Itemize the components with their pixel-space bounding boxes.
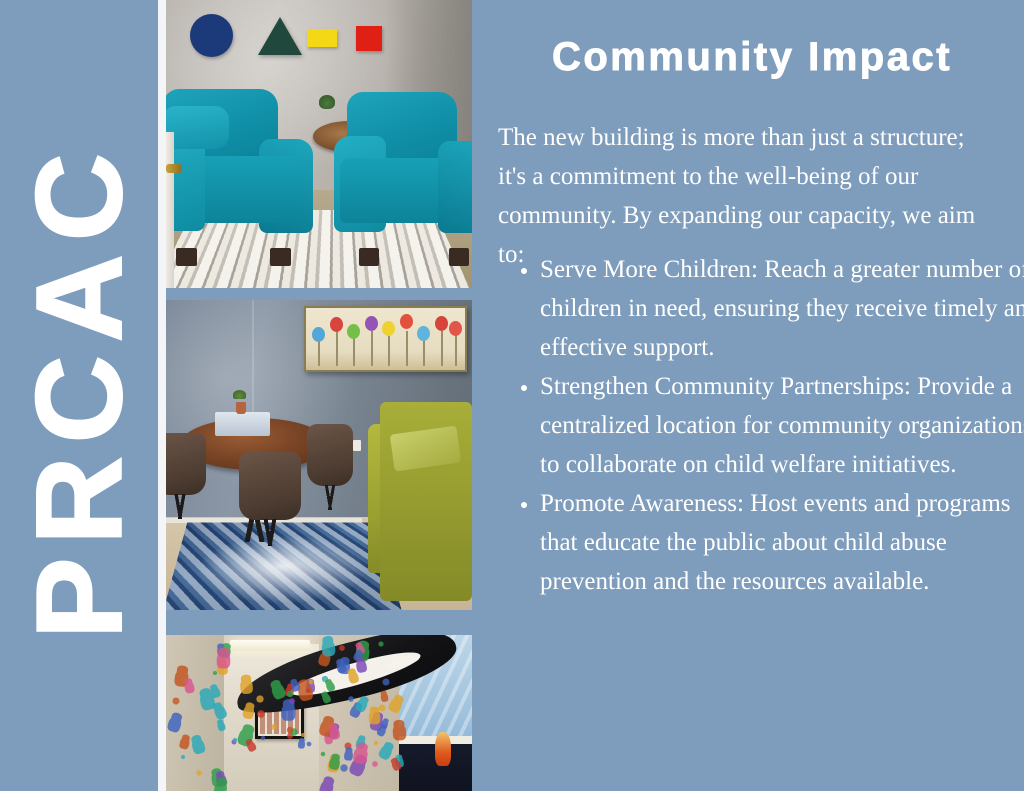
armchair-foot-left xyxy=(359,248,379,266)
armchair-left xyxy=(166,89,313,256)
armchair-foot-right xyxy=(270,248,291,266)
handprint-icon xyxy=(322,640,337,657)
content-panel: Community Impact The new building is mor… xyxy=(480,0,1024,791)
dining-chair-left xyxy=(166,433,206,495)
photo-therapy-room-scene xyxy=(166,0,472,288)
brand-acronym-prcac: PRCAC xyxy=(18,140,140,652)
table-plant-pot xyxy=(236,402,246,414)
poster-canvas: PRCAC xyxy=(0,0,1024,791)
handprint-icon xyxy=(184,681,196,694)
armchair-right xyxy=(337,92,472,256)
chair-legs xyxy=(166,494,206,519)
door-jamb xyxy=(166,132,174,288)
armchair-arm-right xyxy=(438,141,472,233)
paint-dot xyxy=(340,764,347,771)
chair-legs xyxy=(307,485,353,510)
handprint-icon xyxy=(281,704,295,721)
photo-meeting-room-scene xyxy=(166,300,472,610)
wall-shape-triangle-icon xyxy=(258,17,302,55)
table-plant xyxy=(319,95,335,109)
handprint-icon xyxy=(368,711,380,725)
wall-artwork-flowers xyxy=(304,306,467,372)
impact-bullet-2: Strengthen Community Partnerships: Provi… xyxy=(540,367,1024,484)
light-switch xyxy=(353,440,361,451)
mural-figure xyxy=(435,732,450,766)
page-title: Community Impact xyxy=(480,35,1024,79)
photo-meeting-room xyxy=(166,300,472,610)
photo-therapy-room xyxy=(166,0,472,288)
impact-bullet-3: Promote Awareness: Host events and progr… xyxy=(540,484,1024,601)
impact-bullet-1: Serve More Children: Reach a greater num… xyxy=(540,250,1024,367)
wall-shape-rectangle-icon xyxy=(307,29,337,47)
armchair-foot-left xyxy=(176,248,197,266)
dining-chair-front xyxy=(239,452,300,520)
photo-handprint-hallway-scene xyxy=(166,635,472,791)
rail-divider xyxy=(158,0,166,791)
brand-rail: PRCAC xyxy=(0,0,158,791)
handprint-icon xyxy=(240,679,253,695)
chair-legs xyxy=(239,519,300,546)
photo-handprint-hallway xyxy=(166,635,472,791)
paint-dot xyxy=(348,696,354,702)
armchair-foot-right xyxy=(449,248,469,266)
armchair-cushion xyxy=(166,106,229,149)
handprint-icon xyxy=(380,693,389,703)
ceiling-light xyxy=(230,640,310,651)
dining-chair-right xyxy=(307,424,353,486)
door-knob xyxy=(166,164,182,173)
wall-shape-square-icon xyxy=(356,26,382,51)
table-succulent xyxy=(233,390,246,399)
paint-dot xyxy=(212,671,217,676)
handprint-icon xyxy=(392,724,406,741)
table-tissue-box xyxy=(215,412,270,437)
impact-bullet-list: Serve More Children: Reach a greater num… xyxy=(498,250,1024,601)
handprint-icon xyxy=(217,652,231,668)
